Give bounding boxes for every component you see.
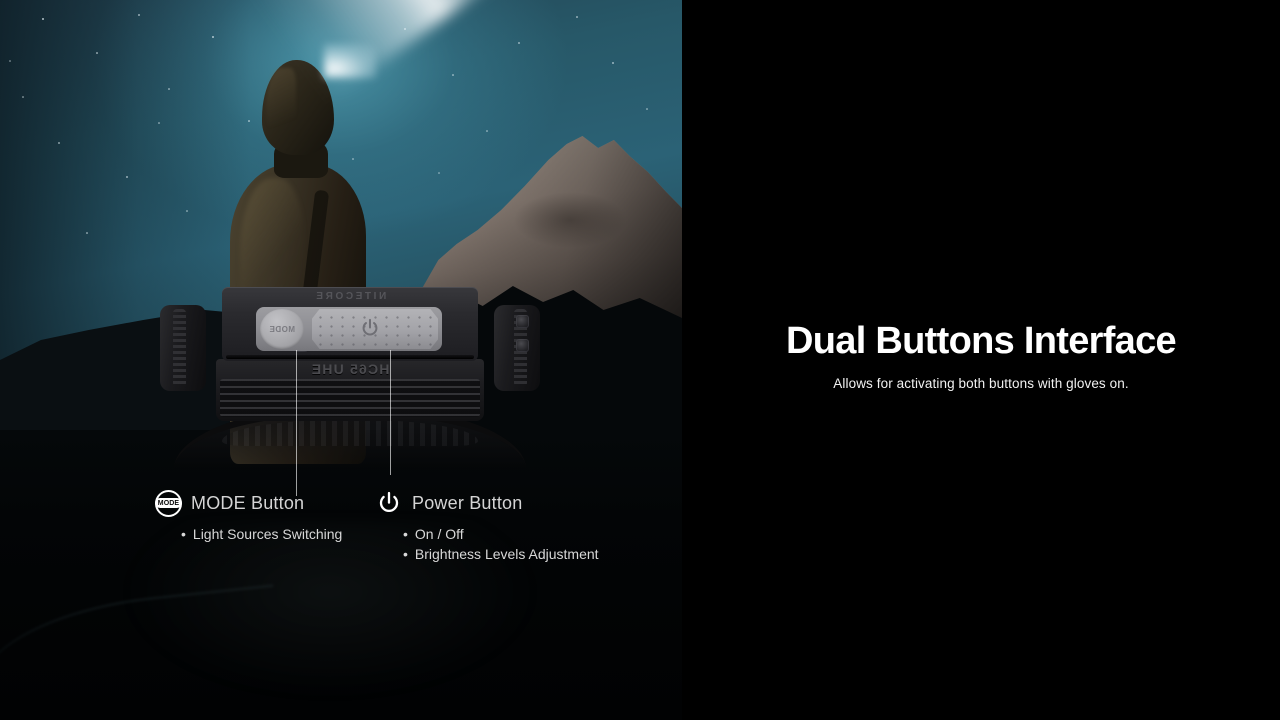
- night-scene-photo: HC65 UHE NITECORE MODE: [0, 0, 682, 720]
- list-item-label: Light Sources Switching: [193, 524, 342, 544]
- callout-mode-list: • Light Sources Switching: [181, 524, 342, 544]
- page-title: Dual Buttons Interface: [786, 322, 1176, 362]
- callout-power-title: Power Button: [412, 493, 522, 514]
- bullet-icon: •: [403, 524, 408, 544]
- mode-badge-text: MODE: [155, 498, 182, 508]
- callout-mode-button: MODE MODE Button • Light Sources Switchi…: [155, 488, 342, 544]
- leader-line-mode: [296, 350, 297, 496]
- page-subtitle: Allows for activating both buttons with …: [833, 376, 1128, 391]
- feature-text-panel: Dual Buttons Interface Allows for activa…: [682, 0, 1280, 720]
- device-model-label: HC65 UHE: [216, 361, 484, 381]
- callout-group: MODE MODE Button • Light Sources Switchi…: [0, 488, 682, 578]
- list-item: • Brightness Levels Adjustment: [403, 544, 599, 564]
- headlamp-device: HC65 UHE NITECORE MODE: [160, 283, 540, 483]
- deck-groove: [226, 355, 474, 359]
- leader-line-power: [390, 350, 391, 475]
- callout-power-list: • On / Off • Brightness Levels Adjustmen…: [403, 524, 599, 564]
- product-feature-slide: HC65 UHE NITECORE MODE: [0, 0, 1280, 720]
- bullet-icon: •: [403, 544, 408, 564]
- power-icon: [375, 489, 403, 517]
- list-item-label: Brightness Levels Adjustment: [415, 544, 599, 564]
- hiker-hood-highlight: [266, 68, 296, 146]
- screw-icon: [516, 315, 529, 328]
- device-brand-label: NITECORE: [222, 291, 478, 307]
- list-item-label: On / Off: [415, 524, 464, 544]
- heatsink-fins: [220, 379, 480, 417]
- bullet-icon: •: [181, 524, 186, 544]
- callout-power-button: Power Button • On / Off • Brightness Lev…: [375, 488, 599, 564]
- power-icon: [359, 317, 381, 339]
- headlamp-beam-core: [324, 44, 376, 78]
- module-ridges-left: [173, 309, 186, 387]
- callout-mode-header: MODE MODE Button: [155, 488, 342, 518]
- device-mode-button[interactable]: MODE: [260, 309, 304, 349]
- screw-icon: [516, 339, 529, 352]
- device-mode-button-label: MODE: [269, 325, 295, 334]
- callout-mode-title: MODE Button: [191, 493, 304, 514]
- list-item: • Light Sources Switching: [181, 524, 342, 544]
- callout-power-header: Power Button: [375, 488, 599, 518]
- list-item: • On / Off: [403, 524, 599, 544]
- mode-badge-icon: MODE: [155, 490, 182, 517]
